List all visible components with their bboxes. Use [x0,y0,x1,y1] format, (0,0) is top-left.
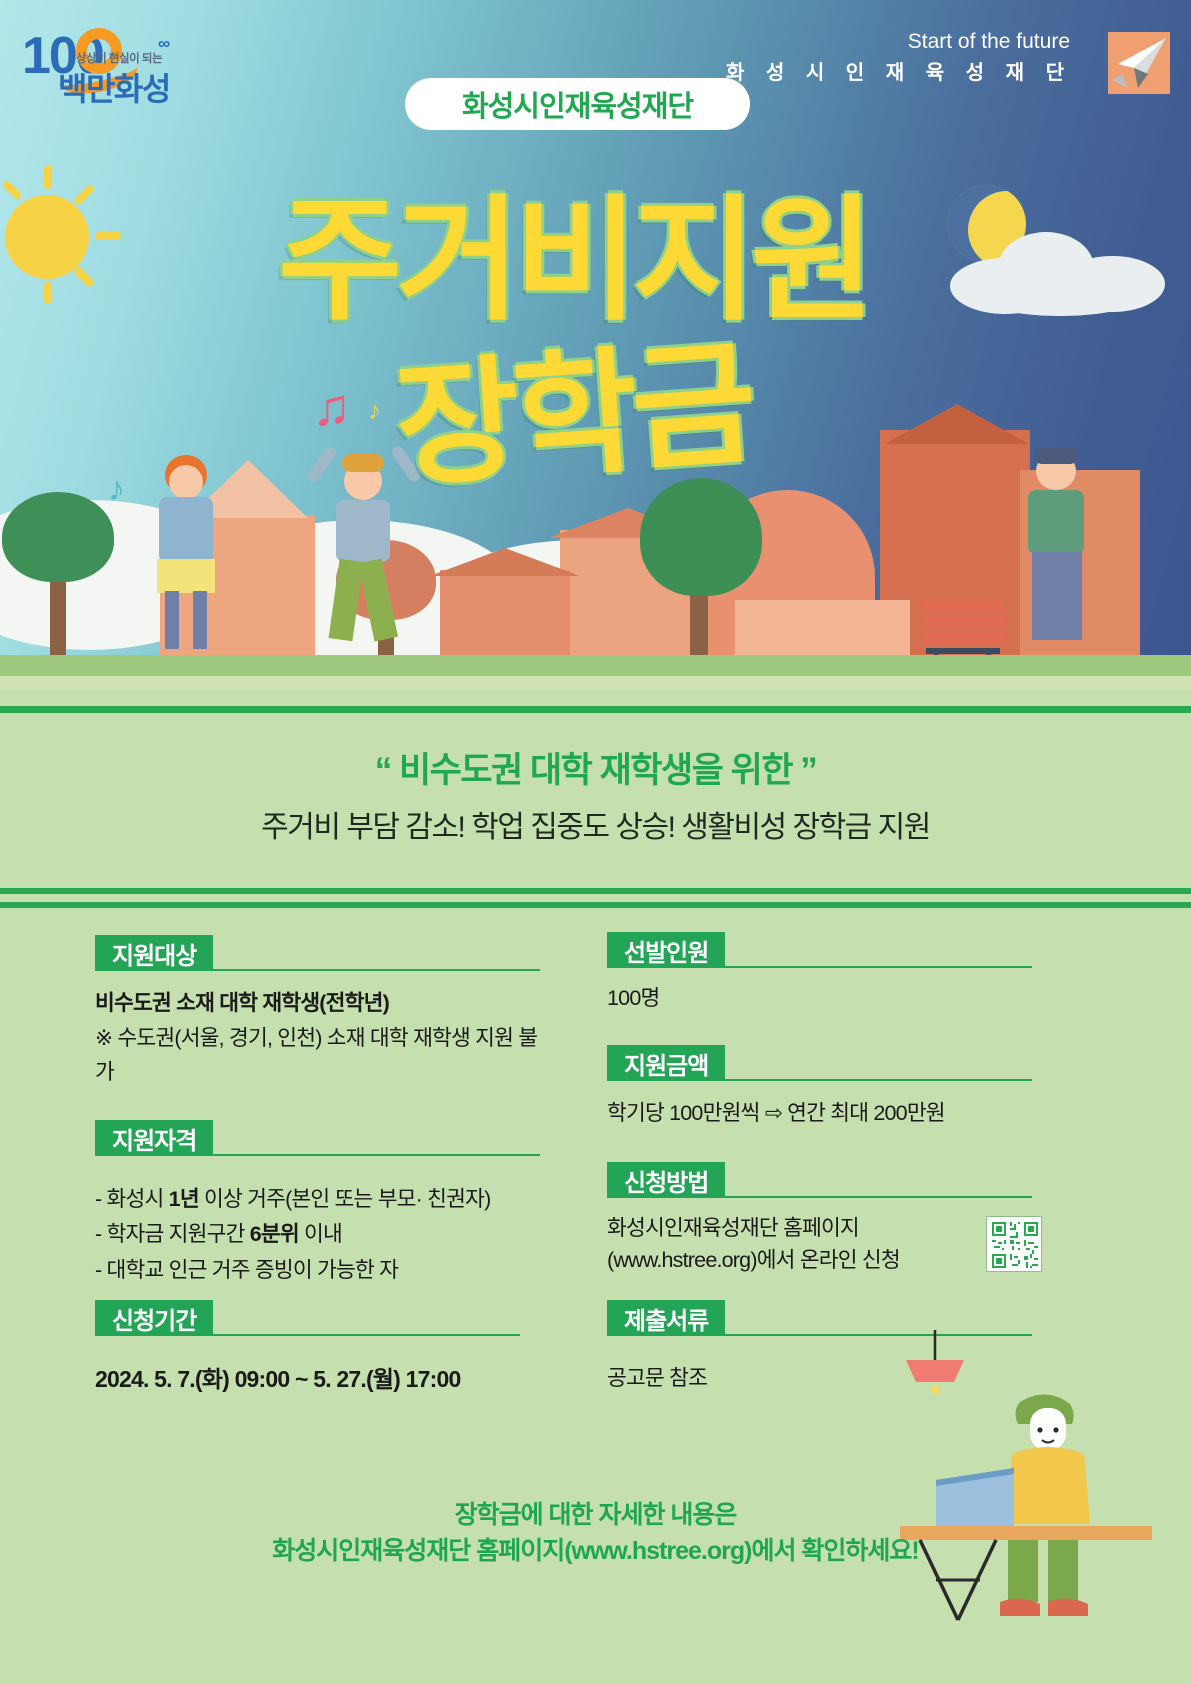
foundation-logo: Start of the future 화 성 시 인 재 육 성 재 단 [780,30,1170,100]
section-quota-label: 선발인원 [607,932,725,968]
city-logo: 100 ∞ 상상이 현실이 되는 백만화성 [22,22,242,102]
section-quota-value: 100명 [607,982,1032,1015]
section-documents-label: 제출서류 [607,1300,725,1336]
section-eligibility-label: 지원자격 [95,1120,213,1156]
eligibility-item: - 대학교 인근 거주 증빙이 가능한 자 [95,1253,540,1288]
student-at-desk-illustration [880,1330,1180,1630]
city-logo-name: 백만화성 [58,64,170,110]
eligibility-item: - 학자금 지원구간 6분위 이내 [95,1217,540,1252]
section-target-label: 지원대상 [95,935,213,971]
poster-title-line2: 장학금 [389,293,756,513]
hero-banner: ♪ ♫ ♪ [0,0,1191,680]
paper-plane-icon [1108,32,1170,94]
music-note-icon: ♫ [312,378,351,438]
divider-top [0,706,1191,713]
section-how-to-apply: 신청방법 화성시인재육성재단 홈페이지 (www.hstree.org)에서 온… [607,1162,1032,1277]
sun-icon [0,165,120,285]
footer-note: 장학금에 대한 자세한 내용은 화성시인재육성재단 홈페이지(www.hstre… [0,1497,1191,1570]
section-period: 신청기간 2024. 5. 7.(화) 09:00 ~ 5. 27.(월) 17… [95,1300,520,1398]
organization-badge: 화성시인재육성재단 [405,78,750,130]
section-how-to-apply-label: 신청방법 [607,1162,725,1198]
house-icon [885,404,1029,444]
footer-line-1: 장학금에 대한 자세한 내용은 [0,1497,1191,1533]
section-amount-value: 학기당 100만원씩 ⇨ 연간 최대 200만원 [607,1097,1032,1130]
house-icon [440,570,570,665]
tree-icon [2,492,114,582]
qr-code-icon[interactable] [986,1216,1042,1272]
section-period-label: 신청기간 [95,1300,213,1336]
section-target-line1: 비수도권 소재 대학 재학생(전학년) [95,987,540,1020]
person-figure [135,455,255,670]
foundation-en-tagline: Start of the future [908,30,1070,54]
foundation-ko-name: 화 성 시 인 재 육 성 재 단 [726,56,1072,85]
apply-line-2: (www.hstree.org)에서 온라인 신청 [607,1244,1032,1276]
footer-line-2: 화성시인재육성재단 홈페이지(www.hstree.org)에서 확인하세요! [0,1533,1191,1569]
person-figure [1010,452,1120,672]
intro-quote: “ 비수도권 대학 재학생을 위한 ” [0,742,1191,793]
section-amount: 지원금액 학기당 100만원씩 ⇨ 연간 최대 200만원 [607,1045,1032,1130]
intro-subtitle: 주거비 부담 감소! 학업 집중도 상승! 생활비성 장학금 지원 [0,802,1191,846]
eligibility-item: - 화성시 1년 이상 거주(본인 또는 부모· 친권자) [95,1182,540,1217]
music-note-icon: ♪ [368,395,381,426]
tree-icon [640,478,762,596]
apply-line-1: 화성시인재육성재단 홈페이지 [607,1212,1032,1244]
section-amount-label: 지원금액 [607,1045,725,1081]
divider-mid-1 [0,888,1191,894]
house-icon [430,548,580,576]
cloud-icon [950,228,1165,316]
section-quota: 선발인원 100명 [607,932,1032,1015]
section-eligibility: 지원자격 - 화성시 1년 이상 거주(본인 또는 부모· 친권자) - 학자금… [95,1120,540,1288]
divider-mid-2 [0,902,1191,908]
section-period-value: 2024. 5. 7.(화) 09:00 ~ 5. 27.(월) 17:00 [95,1362,520,1398]
section-target: 지원대상 비수도권 소재 대학 재학생(전학년) ※ 수도권(서울, 경기, 인… [95,935,540,1089]
section-target-line2: ※ 수도권(서울, 경기, 인천) 소재 대학 재학생 지원 불가 [95,1022,540,1089]
